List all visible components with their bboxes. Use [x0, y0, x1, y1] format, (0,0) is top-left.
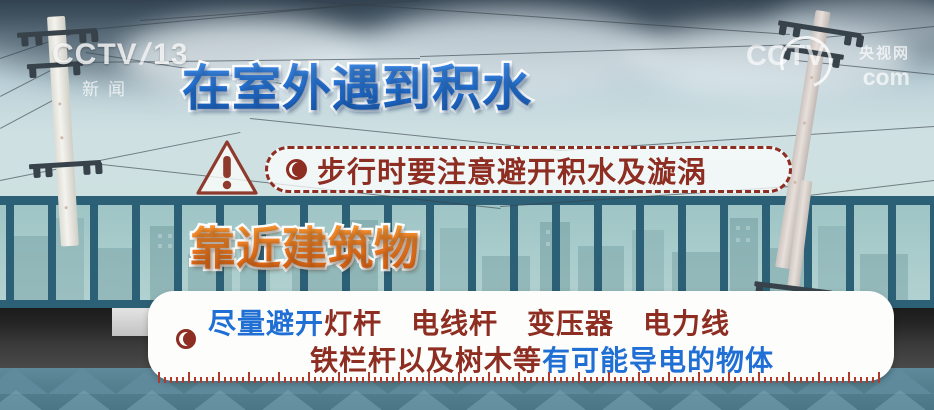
ruler-tick — [506, 377, 508, 383]
ruler-tick — [266, 377, 268, 383]
broadcast-frame: CCTV/13 新闻 CCTV 央视网 com 在室外遇到积水 在室外遇到积水 … — [0, 0, 934, 410]
ruler-tick — [542, 377, 544, 383]
railing-post — [6, 205, 14, 301]
ruler-tick — [404, 377, 406, 383]
ruler-tick — [728, 372, 730, 383]
ruler-tick — [188, 372, 190, 383]
ruler-tick — [512, 377, 514, 383]
ruler-tick — [182, 377, 184, 383]
avoid-items-line1: 灯杆 电线杆 变压器 电力线 — [324, 308, 730, 339]
headline-near-buildings-fill: 靠近建筑物 — [190, 223, 420, 275]
ruler-tick — [434, 377, 436, 383]
ruler-tick — [482, 377, 484, 383]
ruler-tick — [344, 377, 346, 383]
ruler-tick — [758, 372, 760, 383]
ruler-tick — [536, 377, 538, 383]
ruler-tick — [314, 377, 316, 383]
ruler-tick — [464, 377, 466, 383]
ruler-tick — [164, 377, 166, 383]
ruler-tick — [692, 377, 694, 383]
ruler-tick — [242, 377, 244, 383]
ruler-tick — [776, 377, 778, 383]
ruler-tick — [458, 372, 460, 383]
bullet-dot-icon — [176, 329, 196, 349]
ruler-tick — [260, 377, 262, 383]
ruler-tick — [476, 377, 478, 383]
ruler-tick — [332, 377, 334, 383]
ruler-tick — [320, 377, 322, 383]
tip-card-avoid-objects: 尽量避开灯杆 电线杆 变压器 电力线 铁栏杆以及树木等有可能导电的物体 — [148, 291, 894, 381]
ruler-tick — [614, 377, 616, 383]
railing-post — [174, 205, 182, 301]
ruler-tick — [284, 377, 286, 383]
bullet-dot-icon — [286, 159, 307, 180]
ruler-tick — [788, 372, 790, 383]
ruler-tick — [206, 377, 208, 383]
ruler-tick — [308, 372, 310, 383]
ruler-tick — [638, 372, 640, 383]
ruler-tick — [554, 377, 556, 383]
ruler-tick — [176, 377, 178, 383]
ruler-tick — [158, 372, 160, 383]
ruler-tick — [440, 377, 442, 383]
ruler-tick — [290, 377, 292, 383]
ruler-tick — [236, 377, 238, 383]
wave — [398, 390, 450, 410]
ruler-tick — [782, 377, 784, 383]
railing-post — [552, 205, 560, 301]
ruler-tick — [824, 377, 826, 383]
wave — [602, 390, 654, 410]
ruler-tick — [698, 372, 700, 383]
ruler-tick — [350, 377, 352, 383]
ruler-tick — [422, 377, 424, 383]
ruler-tick — [278, 372, 280, 383]
railing-post — [132, 205, 140, 301]
ruler-tick — [296, 377, 298, 383]
ruler-tick — [752, 377, 754, 383]
ruler-tick — [620, 377, 622, 383]
ruler-tick — [662, 377, 664, 383]
ruler-tick — [530, 377, 532, 383]
ruler-tick — [806, 377, 808, 383]
ruler-tick — [830, 377, 832, 383]
ruler-tick — [578, 372, 580, 383]
wave — [874, 390, 926, 410]
ruler-tick — [428, 372, 430, 383]
ruler-tick — [764, 377, 766, 383]
ruler-tick — [740, 377, 742, 383]
ruler-tick — [200, 377, 202, 383]
ruler-tick — [230, 377, 232, 383]
railing-post — [90, 205, 98, 301]
ruler-tick — [410, 377, 412, 383]
ruler-tick — [860, 377, 862, 383]
ruler-tick — [488, 372, 490, 383]
ruler-tick — [584, 377, 586, 383]
ruler-tick — [602, 377, 604, 383]
ruler-tick — [632, 377, 634, 383]
ruler-tick — [494, 377, 496, 383]
ruler-tick — [866, 377, 868, 383]
wave — [806, 390, 858, 410]
ruler-tick — [794, 377, 796, 383]
railing-post — [468, 205, 476, 301]
ruler-tick — [356, 377, 358, 383]
ruler-tick — [836, 377, 838, 383]
warning-triangle-icon — [196, 139, 258, 197]
ruler-tick — [734, 377, 736, 383]
wave — [466, 390, 518, 410]
ruler-tick — [194, 377, 196, 383]
ruler-tick — [416, 377, 418, 383]
ruler-tick — [716, 377, 718, 383]
ruler-tick — [608, 372, 610, 383]
ruler-tick — [170, 377, 172, 383]
tip-bubble-walking: 步行时要注意避开积水及漩涡 — [265, 146, 792, 193]
ruler-tick — [524, 377, 526, 383]
ruler-tick — [470, 377, 472, 383]
tip-walking-text: 步行时要注意避开积水及漩涡 — [317, 149, 707, 191]
ruler-tick — [218, 372, 220, 383]
ruler-tick — [380, 377, 382, 383]
ruler-tick — [854, 377, 856, 383]
ruler-tick — [338, 372, 340, 383]
ruler-tick — [272, 377, 274, 383]
ruler-tick — [566, 377, 568, 383]
ruler-tick — [254, 377, 256, 383]
ruler-tick — [704, 377, 706, 383]
ruler-tick — [302, 377, 304, 383]
ruler-tick — [362, 377, 364, 383]
ruler-tick-border — [158, 372, 884, 383]
ruler-tick — [668, 372, 670, 383]
railing-post — [636, 205, 644, 301]
ruler-tick — [686, 377, 688, 383]
ruler-tick — [650, 377, 652, 383]
wave — [194, 390, 246, 410]
ruler-tick — [518, 372, 520, 383]
railing-post — [888, 205, 896, 301]
wave — [262, 390, 314, 410]
ruler-tick — [500, 377, 502, 383]
railing-post — [510, 205, 518, 301]
ruler-tick — [848, 372, 850, 383]
railing-post — [846, 205, 854, 301]
ruler-tick — [446, 377, 448, 383]
wave — [738, 390, 790, 410]
ruler-tick — [374, 377, 376, 383]
ruler-tick — [800, 377, 802, 383]
railing-post — [594, 205, 602, 301]
ruler-tick — [368, 372, 370, 383]
ruler-tick — [644, 377, 646, 383]
ruler-tick — [674, 377, 676, 383]
railing-post — [930, 205, 934, 301]
headline-outdoor-flood-fill: 在室外遇到积水 — [182, 61, 532, 117]
ruler-tick — [626, 377, 628, 383]
ruler-tick — [398, 372, 400, 383]
headline-near-buildings: 靠近建筑物 靠近建筑物 — [190, 223, 420, 275]
ruler-tick — [224, 377, 226, 383]
ruler-tick — [680, 377, 682, 383]
ruler-tick — [452, 377, 454, 383]
ruler-tick — [392, 377, 394, 383]
wave — [58, 390, 110, 410]
railing-post — [48, 205, 56, 301]
wave — [0, 390, 42, 410]
ruler-tick — [248, 372, 250, 383]
avoid-prefix-text: 尽量避开 — [208, 308, 324, 339]
tip-card-line-1: 尽量避开灯杆 电线杆 变压器 电力线 — [208, 302, 730, 342]
wave — [670, 390, 722, 410]
ruler-tick — [872, 377, 874, 383]
ruler-tick — [710, 377, 712, 383]
railing-post — [426, 205, 434, 301]
wave — [330, 390, 382, 410]
ruler-tick — [656, 377, 658, 383]
ruler-tick — [548, 372, 550, 383]
railing-post — [720, 205, 728, 301]
wave — [126, 390, 178, 410]
ruler-tick — [818, 372, 820, 383]
ruler-tick — [722, 377, 724, 383]
ruler-tick — [746, 377, 748, 383]
ruler-tick — [770, 377, 772, 383]
railing-post — [678, 205, 686, 301]
wave — [534, 390, 586, 410]
ruler-tick — [812, 377, 814, 383]
ruler-tick — [326, 377, 328, 383]
ruler-tick — [386, 377, 388, 383]
ruler-tick — [572, 377, 574, 383]
ruler-tick — [842, 377, 844, 383]
headline-outdoor-flood: 在室外遇到积水 在室外遇到积水 — [182, 61, 532, 117]
ruler-tick — [878, 372, 880, 383]
ruler-tick — [596, 377, 598, 383]
ruler-tick — [590, 377, 592, 383]
ruler-tick — [212, 377, 214, 383]
ruler-tick — [560, 377, 562, 383]
